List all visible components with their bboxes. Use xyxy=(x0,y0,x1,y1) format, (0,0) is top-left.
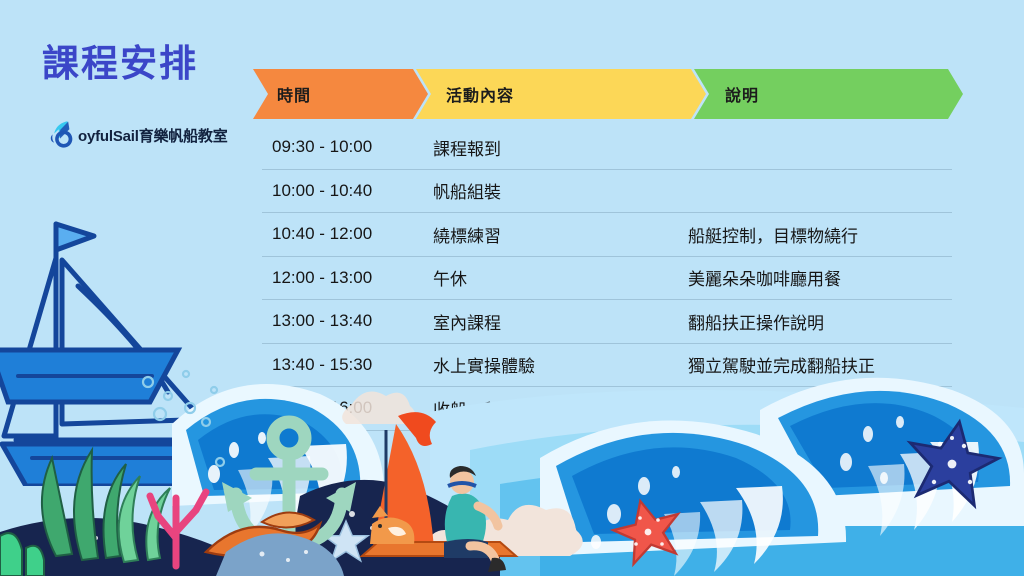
starfish-icon xyxy=(608,493,687,567)
column-header-time: 時間 xyxy=(253,69,428,119)
table-row: 12:00 - 13:00 午休 美麗朵朵咖啡廳用餐 xyxy=(262,257,952,301)
sail-wave-logo-icon xyxy=(46,118,80,152)
cell-note: 平安回家去！ xyxy=(688,396,952,421)
page-title: 課程安排 xyxy=(42,42,198,86)
table-row: 10:00 - 10:40 帆船組裝 xyxy=(262,170,952,214)
cell-time: 10:00 - 10:40 xyxy=(262,181,433,201)
cell-activity: 課程報到 xyxy=(433,135,688,160)
cell-note: 翻船扶正操作說明 xyxy=(688,309,952,334)
table-row: 09:30 - 10:00 課程報到 xyxy=(262,126,952,170)
cell-note: 獨立駕駛並完成翻船扶正 xyxy=(688,352,952,377)
cell-activity: 室內課程 xyxy=(433,309,688,334)
cell-note: 美麗朵朵咖啡廳用餐 xyxy=(688,265,952,290)
brand-wordmark: oyfulSail育樂帆船教室 xyxy=(78,125,228,146)
cell-time: 09:30 - 10:00 xyxy=(262,137,433,157)
column-header-activity: 活動內容 xyxy=(416,69,706,119)
coral-icon xyxy=(0,533,44,576)
table-row: 15:30 - 16:00 收船、盥洗 平安回家去！ xyxy=(262,387,952,431)
sailboat-line-art xyxy=(0,196,252,486)
cell-activity: 繞標練習 xyxy=(433,222,688,247)
cell-note: 船艇控制，目標物繞行 xyxy=(688,222,952,247)
column-header-activity-label: 活動內容 xyxy=(446,82,514,106)
column-header-time-label: 時間 xyxy=(277,82,311,106)
cell-activity: 帆船組裝 xyxy=(433,178,688,203)
table-row: 10:40 - 12:00 繞標練習 船艇控制，目標物繞行 xyxy=(262,213,952,257)
cell-time: 13:40 - 15:30 xyxy=(262,355,433,375)
cell-activity: 水上實操體驗 xyxy=(433,352,688,377)
cell-activity: 收船、盥洗 xyxy=(433,396,688,421)
column-header-note-label: 說明 xyxy=(725,82,759,106)
table-row: 13:00 - 13:40 室內課程 翻船扶正操作說明 xyxy=(262,300,952,344)
seaweed-icon xyxy=(42,450,126,560)
cell-time: 12:00 - 13:00 xyxy=(262,268,433,288)
orange-sailboat-icon xyxy=(362,412,516,556)
table-header-row: 時間 活動內容 說明 xyxy=(253,69,963,119)
starfish-icon xyxy=(324,521,368,561)
schedule-table: 09:30 - 10:00 課程報到 10:00 - 10:40 帆船組裝 10… xyxy=(262,126,952,431)
coral-icon xyxy=(150,492,206,566)
cell-time: 15:30 - 16:00 xyxy=(262,398,433,418)
brand-logo: oyfulSail育樂帆船教室 xyxy=(46,118,228,152)
table-row: 13:40 - 15:30 水上實操體驗 獨立駕駛並完成翻船扶正 xyxy=(262,344,952,388)
anchor-flukes xyxy=(222,482,356,512)
sailor-with-dog-icon xyxy=(370,466,506,572)
cell-time: 13:00 - 13:40 xyxy=(262,311,433,331)
coral-icon xyxy=(206,524,320,576)
cell-time: 10:40 - 12:00 xyxy=(262,224,433,244)
column-header-note: 說明 xyxy=(694,69,963,119)
cell-activity: 午休 xyxy=(433,265,688,290)
slide-canvas: 課程安排 oyfulSail育樂帆船教室 時間 活動內容 說明 09:30 - … xyxy=(0,0,1024,576)
anchor-icon xyxy=(236,422,342,546)
